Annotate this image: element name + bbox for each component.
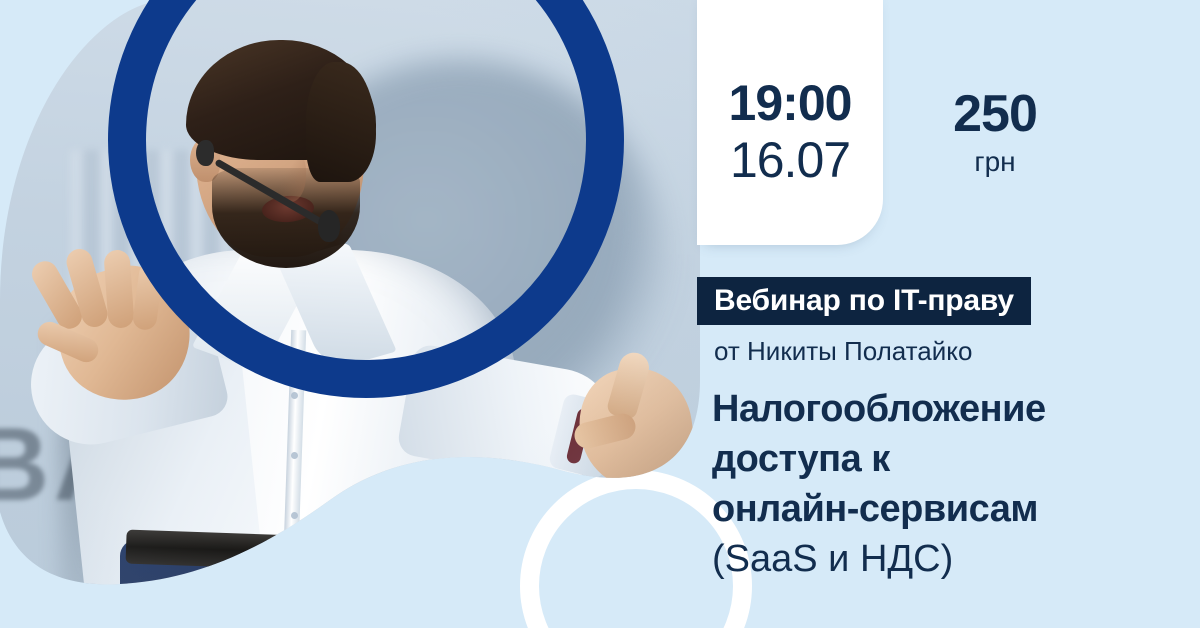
title-line-3: онлайн-сервисам [712,484,1182,534]
author-name: от Никиты Полатайко [714,336,972,367]
webinar-time: 19:00 [697,78,883,128]
price-amount: 250 [905,88,1085,140]
webinar-title: Налогообложение доступа к онлайн-сервиса… [712,384,1182,584]
title-line-2: доступа к [712,434,1182,484]
title-line-1: Налогообложение [712,384,1182,434]
schedule-card: 19:00 16.07 [697,0,883,245]
webinar-promo-banner: ВА [0,0,1200,628]
title-line-4: (SaaS и НДС) [712,534,1182,584]
webinar-date: 16.07 [697,135,883,185]
topic-label: Вебинар по IT-праву [697,277,1031,325]
price-block: 250 грн [905,88,1085,176]
speaker-photo: ВА [0,0,700,628]
price-currency: грн [905,148,1085,176]
